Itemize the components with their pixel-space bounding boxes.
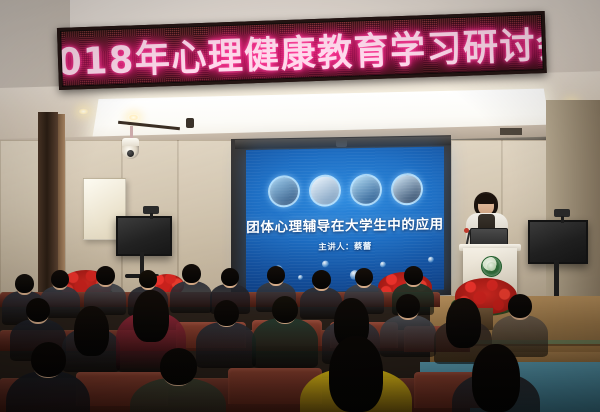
wall-monitor-right [528, 220, 588, 264]
attendee-hair [446, 298, 481, 348]
attendee-hair [182, 264, 201, 283]
track-light-icon [186, 118, 194, 128]
microphone-head [464, 228, 469, 233]
attendee-hair [160, 348, 197, 385]
attendee-hair [272, 296, 298, 323]
attendee-shoulders [170, 281, 212, 313]
attendee-hair [508, 294, 532, 318]
downlight-icon [128, 114, 139, 121]
downlight-icon [78, 108, 89, 115]
slide-presenter: 主讲人：蔡蕾 [246, 239, 444, 254]
attendee-hair [214, 300, 239, 326]
attendee-shoulders [252, 318, 318, 368]
attendee-hair [267, 266, 285, 284]
camera-lens-icon [127, 150, 134, 157]
university-crest-icon [481, 256, 502, 277]
attendee-hair [329, 336, 383, 412]
attendee-hair [139, 270, 157, 288]
attendee-hair [221, 268, 239, 286]
slide-bubble [322, 261, 329, 268]
attendee-hair [396, 294, 420, 318]
auditorium-photo: 2018年心理健康教育学习研讨会 [0, 0, 600, 412]
slide-bubble [298, 275, 303, 280]
attendee-shoulders [380, 315, 436, 357]
attendee-hair [133, 290, 169, 342]
tv-stand-pole [554, 260, 559, 298]
attendee-hair [15, 274, 34, 293]
tv-top-post [561, 216, 564, 223]
attendee-hair [74, 306, 109, 356]
slide-title: 团体心理辅导在大学生中的应用 [246, 213, 444, 236]
attendee-hair [51, 270, 69, 288]
attendee-hair [312, 270, 331, 289]
presenter-fringe [476, 194, 496, 204]
attendee-shoulders [196, 322, 256, 368]
slide-icon-row [246, 173, 444, 208]
slide-bubble [428, 257, 434, 263]
wall-monitor-left [116, 216, 172, 256]
attendee-hair [355, 268, 373, 286]
attendee-hair [404, 266, 423, 285]
attendee-hair [96, 266, 115, 285]
slide-thumb-globe-icon [350, 174, 382, 207]
attendee-hair [472, 344, 520, 412]
ceiling-vent-icon [500, 128, 522, 135]
slide-thumb-climber-icon [309, 174, 341, 207]
slide-bubble [380, 262, 386, 268]
attendee-hair [26, 298, 50, 322]
projection-screen-mount [336, 138, 347, 147]
slide-thumb-graduation-icon [268, 175, 300, 208]
tv-screen-right [528, 220, 588, 264]
slide-thumb-group-icon [391, 173, 423, 206]
attendee-hair [31, 342, 66, 377]
tv-top-post [150, 213, 153, 219]
tv-screen-left [116, 216, 172, 256]
